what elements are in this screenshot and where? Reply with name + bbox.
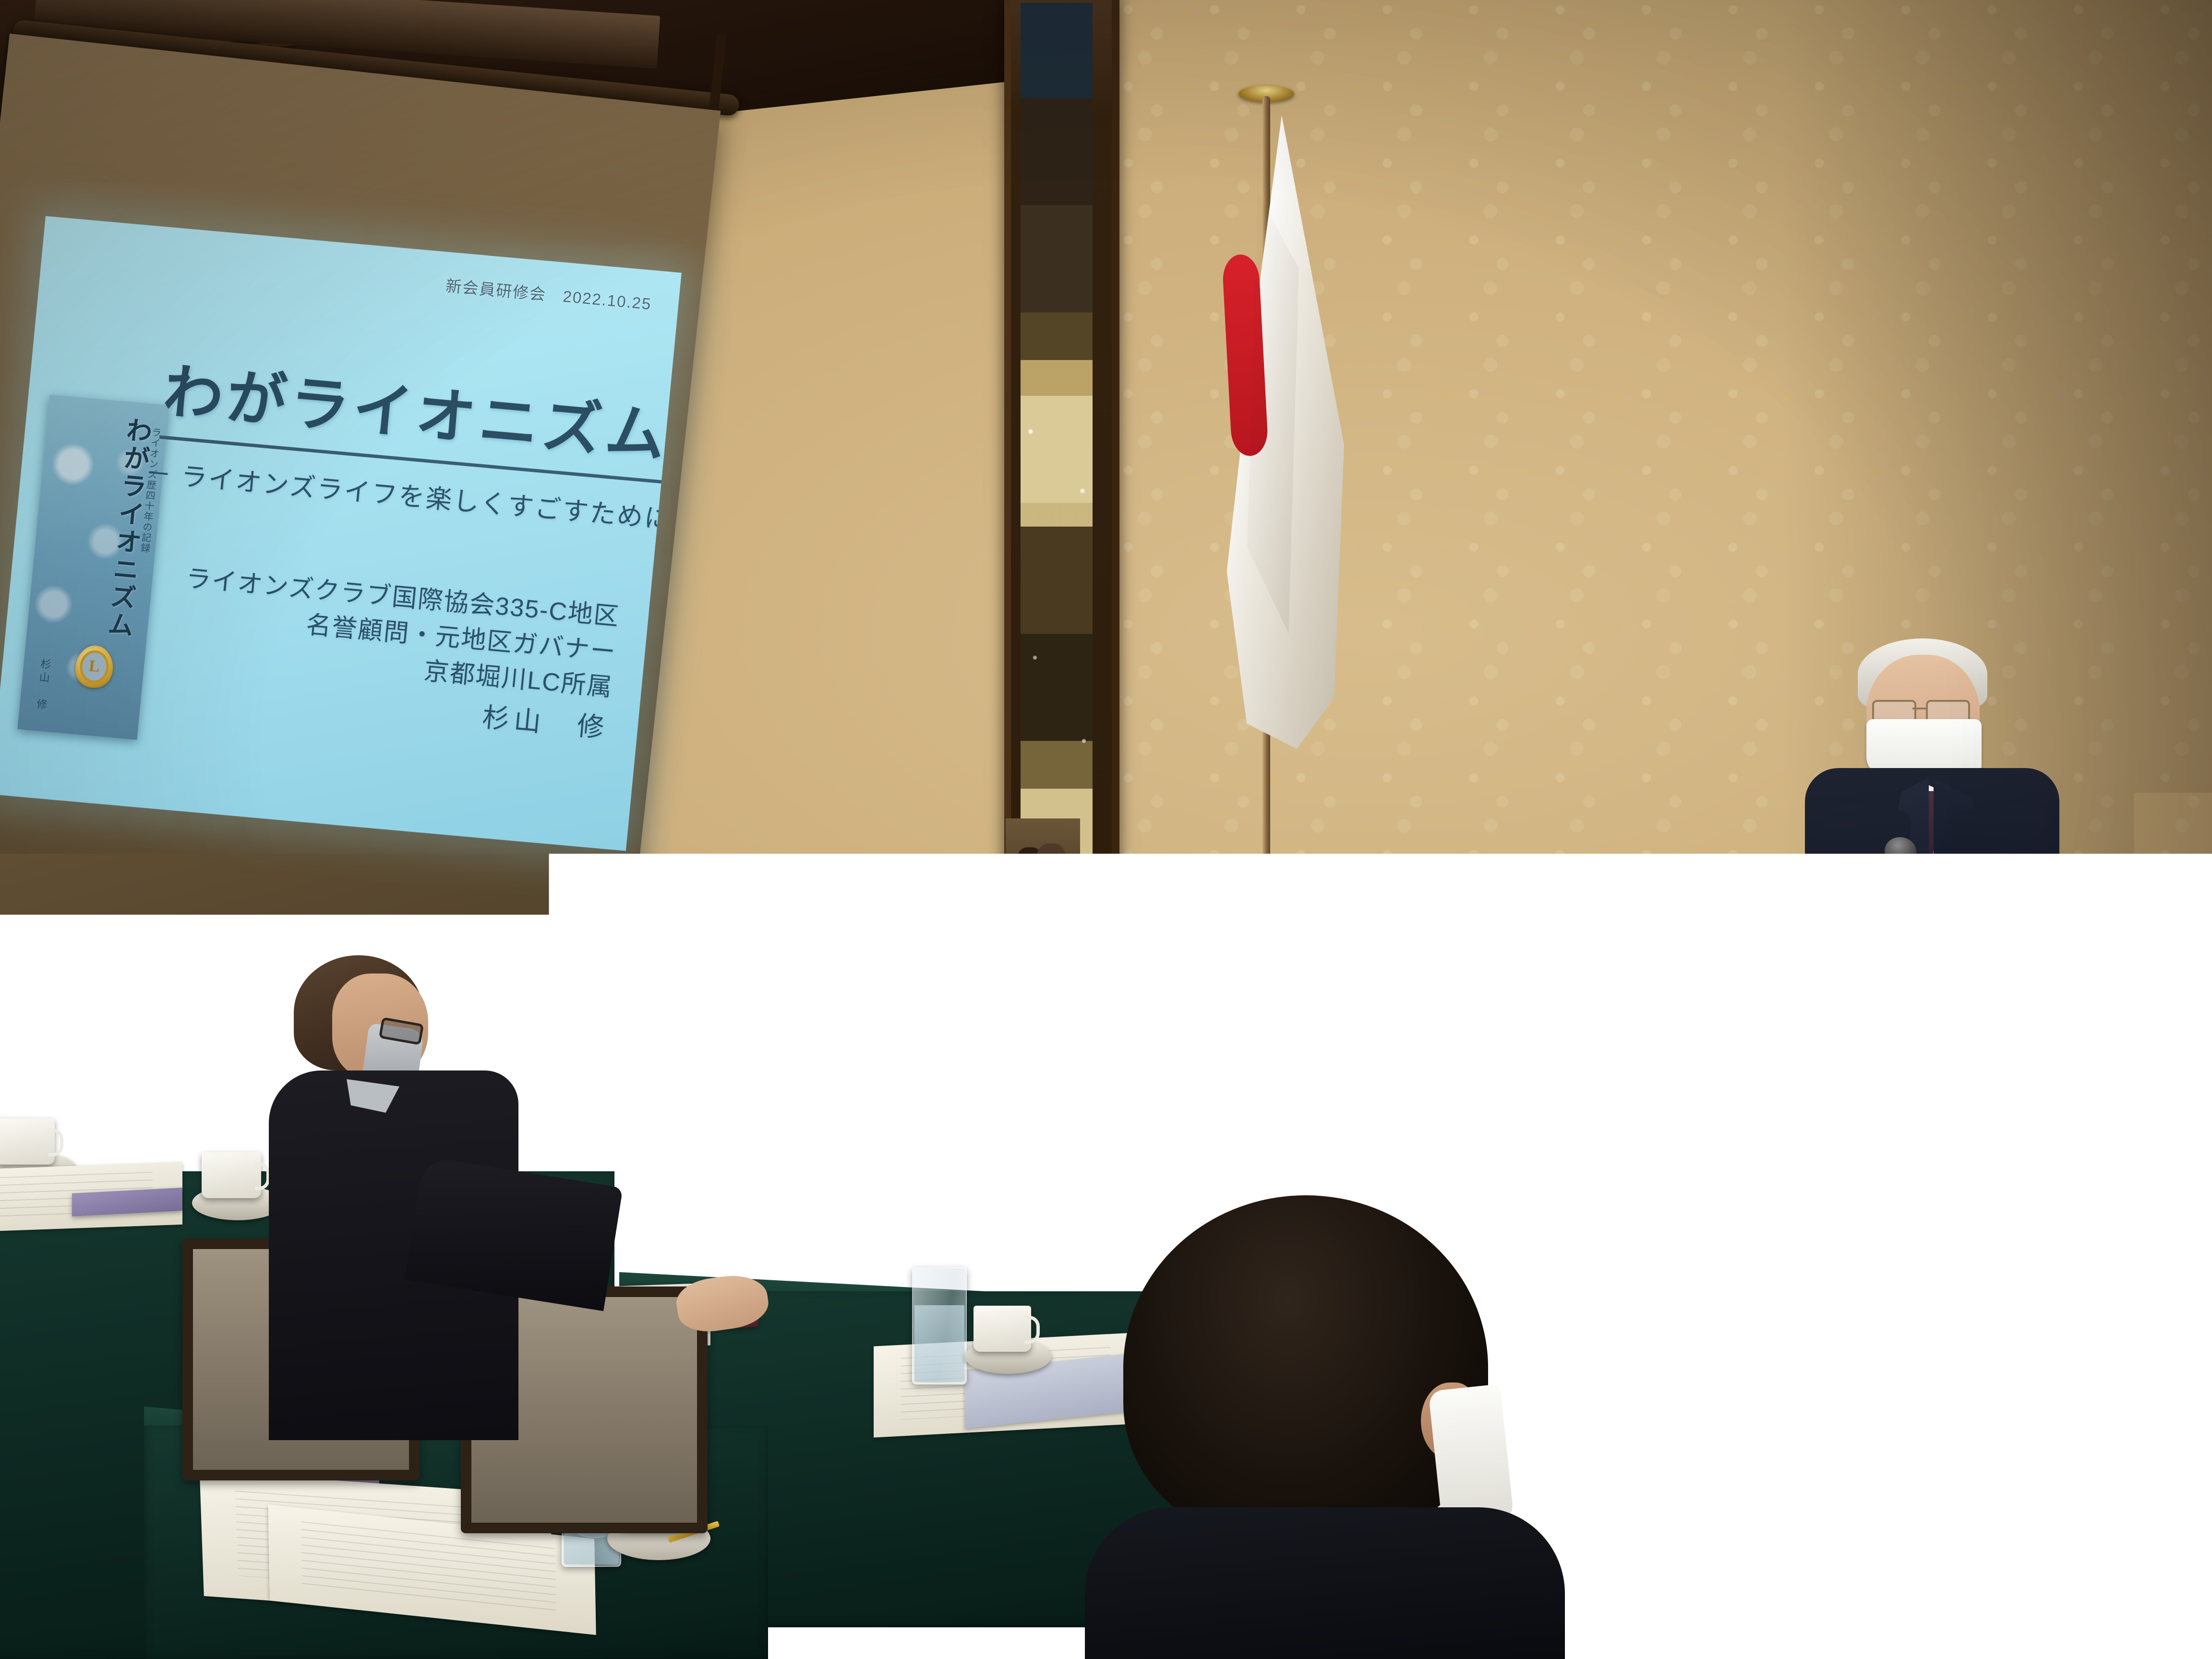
slide-header-text: 新会員研修会 2022.10.25 [445, 273, 653, 314]
cup-handle [48, 1129, 63, 1156]
water-glass [912, 1267, 967, 1384]
laptop-current-slide [769, 1201, 845, 1266]
laptop-screen[interactable] [768, 1191, 900, 1291]
laptop-next-slide-thumbnail[interactable] [848, 1199, 895, 1237]
coffee-cup [0, 1118, 55, 1165]
attendee-seated-left [269, 955, 557, 1440]
stage-cable-run [1503, 1109, 1935, 1257]
audience-chair [1666, 1479, 2079, 1659]
doorway-attendee-tie [1040, 886, 1047, 909]
coffee-cup [202, 1152, 261, 1198]
glass-water [914, 1305, 964, 1382]
next-slide-line [852, 1205, 890, 1208]
pitcher-band [1498, 989, 1558, 1001]
foreground-left-suit [0, 1575, 283, 1659]
next-slide-line [852, 1211, 883, 1214]
laptop-slide-title-line [789, 1220, 837, 1230]
podium-crest-monogram: RIHGA [761, 968, 841, 1012]
laptop-slide-body-line [796, 1243, 837, 1248]
lions-emblem-letter: L [78, 649, 110, 684]
speaker-eyeglasses [1872, 700, 1975, 719]
projected-slide: 新会員研修会 2022.10.25 わがライオニズム ライオンズ歴四十年の記録 … [0, 216, 682, 851]
cup-handle [1025, 1316, 1040, 1344]
podium-side-panel [934, 1046, 1048, 1305]
laptop-speaker-notes-pane[interactable] [850, 1239, 899, 1283]
book-cover-author: 杉山 修 [33, 658, 53, 712]
laptop-slide-book-thumb [772, 1216, 787, 1256]
attendee-foreground-center [1056, 1195, 1565, 1659]
laptop-slide-body-line [818, 1257, 837, 1261]
attendee-foreground-left [0, 1306, 293, 1659]
foreground-attendee-suit [1085, 1507, 1565, 1659]
laptop-slide-body-line [807, 1252, 837, 1257]
pitcher-lid [1505, 962, 1551, 974]
slide-affiliation-block: ライオンズクラブ国際協会335-C地区 名誉顧問・元地区ガバナー 京都堀川LC所… [173, 561, 621, 747]
lions-club-emblem-icon: L [73, 644, 115, 689]
book-cover-image: わがライオニズム ライオンズ歴四十年の記録 杉山 修 L [17, 395, 169, 740]
laptop-slide-body-line [801, 1248, 837, 1252]
laptop-slide-header-line [816, 1211, 839, 1214]
document-text-lines [301, 1521, 557, 1613]
next-slide-line [852, 1217, 875, 1220]
cup-handle [255, 1162, 270, 1190]
foreground-attendee-hair [1123, 1195, 1488, 1541]
coffee-cup [974, 1306, 1031, 1352]
laptop-slide-subtitle-line [790, 1231, 834, 1237]
eyeglass-bridge [1912, 708, 1926, 709]
doorway-attendee-mask [1043, 860, 1063, 879]
banquet-hall-scene: 新会員研修会 2022.10.25 わがライオニズム ライオンズ歴四十年の記録 … [0, 0, 2212, 1659]
